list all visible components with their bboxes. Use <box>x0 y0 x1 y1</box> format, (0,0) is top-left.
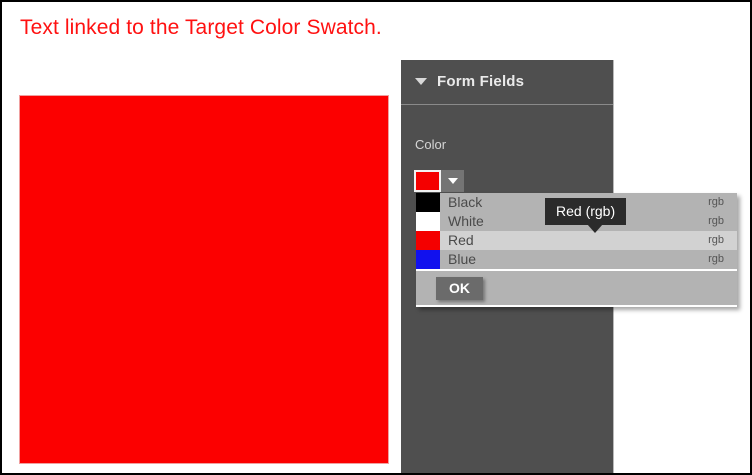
color-option-mode: rgb <box>708 250 737 269</box>
color-option-label: Blue <box>440 250 708 269</box>
panel-header-inner: Form Fields <box>415 73 524 90</box>
color-option-mode: rgb <box>708 231 737 250</box>
color-dropdown-button[interactable] <box>441 170 464 192</box>
color-option-mode: rgb <box>708 193 737 212</box>
color-option-row[interactable]: Redrgb <box>416 231 737 250</box>
color-option-label: Red <box>440 231 708 250</box>
panel-title: Form Fields <box>437 73 524 90</box>
current-color-swatch[interactable] <box>414 170 441 192</box>
triangle-down-icon[interactable] <box>415 78 427 85</box>
popup-footer: OK <box>416 271 737 305</box>
tooltip-arrow-icon <box>587 224 603 233</box>
color-field-label: Color <box>415 137 446 152</box>
color-tooltip: Red (rgb) <box>545 198 626 225</box>
screenshot-root: Text linked to the Target Color Swatch. … <box>0 0 752 475</box>
panel-header[interactable]: Form Fields <box>401 60 613 105</box>
color-option-swatch <box>416 250 440 269</box>
chevron-down-icon <box>448 178 458 184</box>
color-option-row[interactable]: Bluergb <box>416 250 737 269</box>
color-option-mode: rgb <box>708 212 737 231</box>
color-option-swatch <box>416 193 440 212</box>
color-option-swatch <box>416 231 440 250</box>
color-option-swatch <box>416 212 440 231</box>
target-color-swatch <box>19 95 389 464</box>
page-title: Text linked to the Target Color Swatch. <box>20 16 382 40</box>
color-swatch-control <box>414 170 464 192</box>
ok-button[interactable]: OK <box>436 277 483 300</box>
